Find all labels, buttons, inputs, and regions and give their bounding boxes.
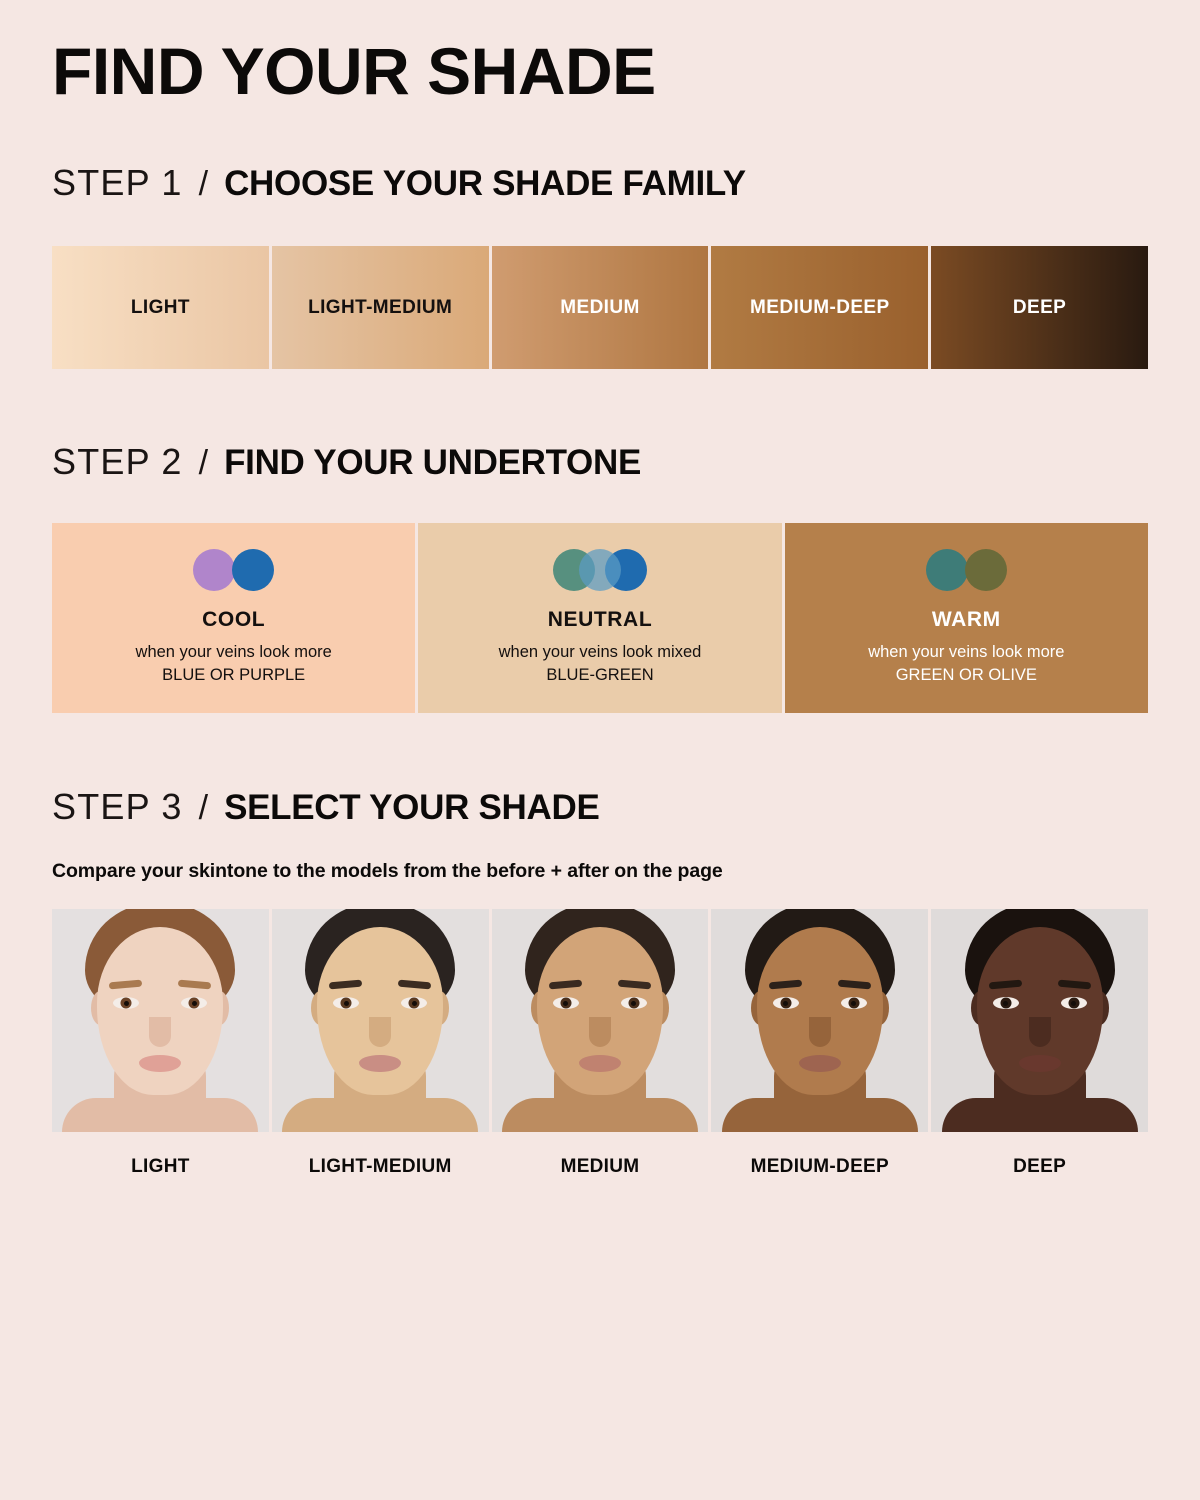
undertone-name: NEUTRAL (548, 608, 653, 632)
model-eye-right (401, 997, 427, 1009)
model-lips (139, 1055, 181, 1072)
model-iris (409, 998, 420, 1009)
model-portrait (65, 909, 255, 1132)
undertone-panel-cool[interactable]: COOLwhen your veins look moreBLUE OR PUR… (52, 523, 415, 713)
undertone-description-line-1: when your veins look mixed (499, 641, 702, 664)
step-3-title: SELECT YOUR SHADE (224, 788, 599, 828)
model-label-deep: DEEP (931, 1156, 1148, 1178)
model-pupil (344, 1001, 349, 1006)
step-3-separator: / (199, 789, 208, 828)
undertone-description: when your veins look moreGREEN OR OLIVE (868, 641, 1064, 687)
shade-swatch-light-medium[interactable]: LIGHT-MEDIUM (272, 246, 489, 369)
step-3-subtitle: Compare your skintone to the models from… (52, 860, 1148, 883)
model-portrait (505, 909, 695, 1132)
model-label-row: LIGHTLIGHT-MEDIUMMEDIUMMEDIUM-DEEPDEEP (52, 1156, 1148, 1178)
step-2-heading: STEP 2 / FIND YOUR UNDERTONE (52, 441, 1148, 483)
model-portrait (285, 909, 475, 1132)
model-nose (149, 1017, 171, 1047)
model-lips (579, 1055, 621, 1072)
model-pupil (563, 1001, 568, 1006)
model-iris (848, 998, 859, 1009)
undertone-dot-2-icon (232, 549, 274, 591)
model-photo-row (52, 909, 1148, 1132)
model-portrait (725, 909, 915, 1132)
undertone-panel-row: COOLwhen your veins look moreBLUE OR PUR… (52, 523, 1148, 713)
step-1-number: STEP 1 (52, 162, 183, 204)
model-photo-light[interactable] (52, 909, 269, 1132)
model-pupil (631, 1001, 636, 1006)
model-eye-right (181, 997, 207, 1009)
undertone-description-line-2: BLUE OR PURPLE (136, 664, 332, 687)
undertone-panel-warm[interactable]: WARMwhen your veins look moreGREEN OR OL… (785, 523, 1148, 713)
model-iris (121, 998, 132, 1009)
shade-swatch-label: LIGHT (131, 297, 190, 319)
undertone-name: WARM (932, 608, 1001, 632)
model-eye-left (333, 997, 359, 1009)
undertone-dot-2-icon (965, 549, 1007, 591)
model-eye-right (1061, 997, 1087, 1009)
step-3-number: STEP 3 (52, 786, 183, 828)
model-pupil (1003, 1001, 1008, 1006)
undertone-name: COOL (202, 608, 265, 632)
shade-swatch-label: LIGHT-MEDIUM (308, 297, 452, 319)
undertone-dot-1-icon (193, 549, 235, 591)
model-eye-left (553, 997, 579, 1009)
model-photo-deep[interactable] (931, 909, 1148, 1132)
model-iris (628, 998, 639, 1009)
model-label-light: LIGHT (52, 1156, 269, 1178)
shade-swatch-deep[interactable]: DEEP (931, 246, 1148, 369)
step-1-separator: / (199, 165, 208, 204)
step-1-heading: STEP 1 / CHOOSE YOUR SHADE FAMILY (52, 162, 1148, 204)
undertone-description-line-2: BLUE-GREEN (499, 664, 702, 687)
model-photo-light-medium[interactable] (272, 909, 489, 1132)
model-photo-medium[interactable] (492, 909, 709, 1132)
model-pupil (783, 1001, 788, 1006)
model-nose (809, 1017, 831, 1047)
model-eye-right (621, 997, 647, 1009)
undertone-dots (926, 549, 1007, 591)
undertone-panel-neutral[interactable]: NEUTRALwhen your veins look mixedBLUE-GR… (418, 523, 781, 713)
model-nose (369, 1017, 391, 1047)
model-iris (560, 998, 571, 1009)
model-lips (359, 1055, 401, 1072)
undertone-dot-1-icon (926, 549, 968, 591)
step-3-heading: STEP 3 / SELECT YOUR SHADE (52, 786, 1148, 828)
model-iris (780, 998, 791, 1009)
model-nose (1029, 1017, 1051, 1047)
model-nose (589, 1017, 611, 1047)
model-pupil (192, 1001, 197, 1006)
find-your-shade-page: FIND YOUR SHADE STEP 1 / CHOOSE YOUR SHA… (0, 0, 1200, 1500)
model-label-medium-deep: MEDIUM-DEEP (711, 1156, 928, 1178)
model-eye-left (113, 997, 139, 1009)
shade-swatch-medium-deep[interactable]: MEDIUM-DEEP (711, 246, 928, 369)
shade-swatch-light[interactable]: LIGHT (52, 246, 269, 369)
step-2-number: STEP 2 (52, 441, 183, 483)
undertone-description-line-1: when your veins look more (136, 641, 332, 664)
model-iris (341, 998, 352, 1009)
model-lips (1019, 1055, 1061, 1072)
step-2-title: FIND YOUR UNDERTONE (224, 443, 641, 483)
undertone-description-line-2: GREEN OR OLIVE (868, 664, 1064, 687)
model-iris (1000, 998, 1011, 1009)
undertone-dots (193, 549, 274, 591)
shade-swatch-label: DEEP (1013, 297, 1066, 319)
model-eye-right (841, 997, 867, 1009)
model-iris (189, 998, 200, 1009)
undertone-description-line-1: when your veins look more (868, 641, 1064, 664)
shade-swatch-label: MEDIUM-DEEP (750, 297, 890, 319)
step-2-separator: / (199, 444, 208, 483)
undertone-dot-2-icon (579, 549, 621, 591)
model-pupil (124, 1001, 129, 1006)
model-lips (799, 1055, 841, 1072)
undertone-description: when your veins look moreBLUE OR PURPLE (136, 641, 332, 687)
shade-swatch-medium[interactable]: MEDIUM (492, 246, 709, 369)
model-label-medium: MEDIUM (492, 1156, 709, 1178)
undertone-description: when your veins look mixedBLUE-GREEN (499, 641, 702, 687)
page-title: FIND YOUR SHADE (52, 0, 1148, 104)
model-pupil (851, 1001, 856, 1006)
model-iris (1068, 998, 1079, 1009)
model-label-light-medium: LIGHT-MEDIUM (272, 1156, 489, 1178)
shade-swatch-label: MEDIUM (560, 297, 639, 319)
undertone-dots (553, 549, 647, 591)
model-eye-left (773, 997, 799, 1009)
model-pupil (412, 1001, 417, 1006)
shade-family-bar: LIGHTLIGHT-MEDIUMMEDIUMMEDIUM-DEEPDEEP (52, 246, 1148, 369)
model-pupil (1071, 1001, 1076, 1006)
step-1-title: CHOOSE YOUR SHADE FAMILY (224, 164, 746, 204)
model-portrait (945, 909, 1135, 1132)
model-photo-medium-deep[interactable] (711, 909, 928, 1132)
model-eye-left (993, 997, 1019, 1009)
